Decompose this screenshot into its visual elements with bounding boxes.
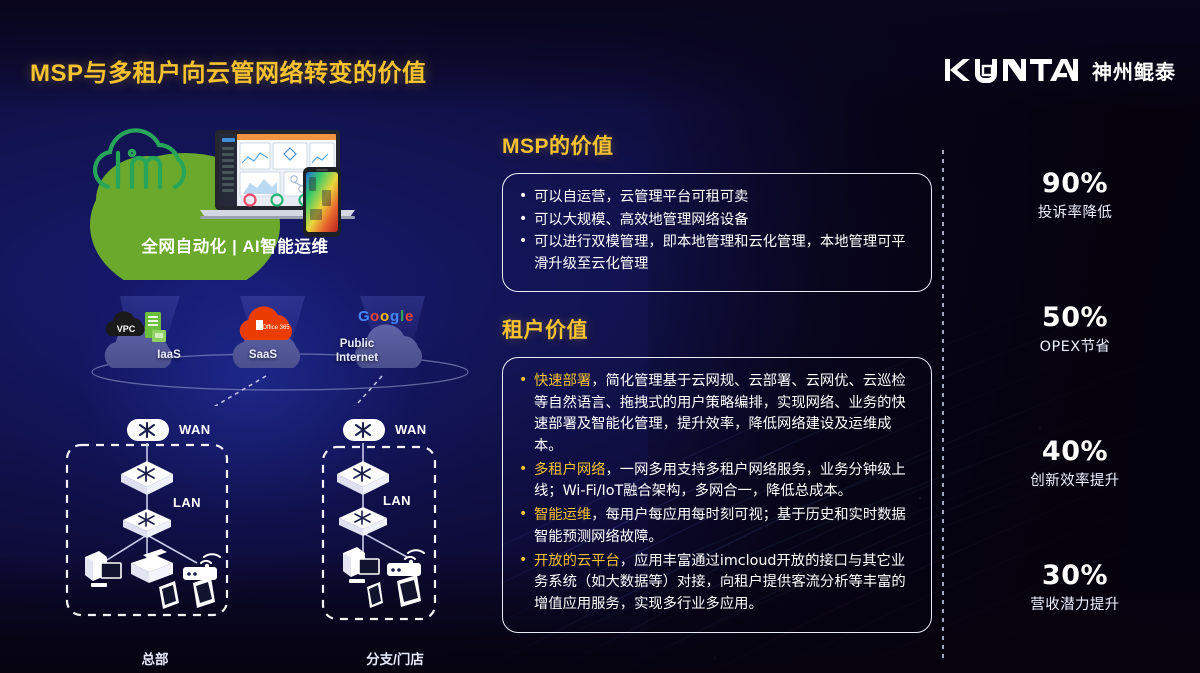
stat-item: 50% OPEX节省: [950, 302, 1200, 356]
topology-hq-diagram: [55, 405, 255, 655]
topology-branch-caption: 分支/门店: [295, 648, 495, 668]
list-item: 智能运维，每用户每应用每时刻可视；基于历史和实时数据智能预测网络故障。: [517, 505, 915, 548]
topology-branch: WAN LAN 分支/门店: [295, 405, 495, 670]
tenant-value-panel: 快速部署，简化管理基于云网规、云部署、云网优、云巡检等自然语言、拖拽式的用户策略…: [502, 357, 932, 633]
stat-value: 30%: [950, 560, 1200, 591]
stat-caption: 营收潜力提升: [950, 593, 1200, 614]
stat-value: 50%: [950, 302, 1200, 333]
tablet-device-icon-1: [367, 582, 383, 608]
brand-name-cn: 神州鲲泰: [1092, 56, 1176, 85]
stat-caption: OPEX节省: [950, 335, 1200, 356]
topology-hq-wan-label: WAN: [179, 422, 211, 437]
list-item: 可以大规模、高效地管理网络设备: [517, 210, 915, 232]
brand-logo: 神州鲲泰: [945, 55, 1176, 85]
svg-text:VPC: VPC: [117, 324, 136, 334]
google-logo-icon: G o o g l e: [358, 308, 413, 325]
tenant-item-keyword: 智能运维: [534, 507, 591, 523]
kuntai-wordmark-icon: [945, 57, 1079, 83]
desktop-pc-icon: [85, 551, 121, 587]
tenant-item-keyword: 多租户网络: [534, 462, 605, 478]
svg-text:g: g: [390, 308, 399, 325]
stat-item: 40% 创新效率提升: [950, 436, 1200, 490]
msp-item-text: 可以大规模、高效地管理网络设备: [534, 212, 748, 228]
tenant-section-heading: 租户价值: [502, 314, 932, 344]
svg-text:o: o: [380, 308, 389, 325]
stat-value: 40%: [950, 436, 1200, 467]
svg-text:l: l: [400, 308, 404, 325]
tenant-value-list: 快速部署，简化管理基于云网规、云部署、云网优、云巡检等自然语言、拖拽式的用户策略…: [517, 371, 915, 616]
tenant-item-keyword: 开放的云平台: [534, 553, 620, 569]
cloud-label-saas: SaaS: [218, 348, 308, 362]
desktop-pc-icon: [343, 547, 379, 583]
list-item: 快速部署，简化管理基于云网规、云部署、云网优、云巡检等自然语言、拖拽式的用户策略…: [517, 371, 915, 458]
svg-text:G: G: [358, 308, 370, 325]
topology-branch-wan-label: WAN: [395, 422, 427, 437]
switch-device-icon-2: [123, 509, 171, 538]
tablet-device-icon-2: [193, 577, 215, 608]
switch-device-icon-2: [339, 507, 387, 536]
stat-caption: 创新效率提升: [950, 469, 1200, 490]
list-item: 可以进行双模管理，即本地管理和云化管理，本地管理可平滑升级至云化管理: [517, 232, 915, 275]
tenant-item-keyword: 快速部署: [534, 373, 591, 389]
stat-caption: 投诉率降低: [950, 201, 1200, 222]
topology-branch-lan-label: LAN: [383, 493, 411, 508]
stat-item: 30% 营收潜力提升: [950, 560, 1200, 614]
msp-value-panel: 可以自运营，云管理平台可租可卖 可以大规模、高效地管理网络设备 可以进行双模管理…: [502, 173, 932, 292]
list-item: 多租户网络，一网多用支持多租户网络服务，业务分钟级上线；Wi-Fi/IoT融合架…: [517, 460, 915, 503]
msp-item-text: 可以自运营，云管理平台可租可卖: [534, 189, 748, 205]
vertical-dotted-divider: [942, 150, 944, 662]
switch-device-icon-1: [121, 461, 173, 495]
msp-item-text: 可以进行双模管理，即本地管理和云化管理，本地管理可平滑升级至云化管理: [534, 234, 906, 272]
svg-text:Office 365: Office 365: [262, 325, 290, 331]
cloud-label-iaas: IaaS: [124, 348, 214, 362]
list-item: 可以自运营，云管理平台可租可卖: [517, 187, 915, 209]
topology-hq-lan-label: LAN: [173, 495, 201, 510]
stat-value: 90%: [950, 168, 1200, 199]
cloud-label-public-internet: PublicInternet: [312, 337, 402, 366]
topology-branch-diagram: [295, 405, 495, 655]
topology-headquarters: WAN LAN 总部: [55, 405, 255, 670]
svg-text:o: o: [370, 308, 379, 325]
stat-item: 90% 投诉率降低: [950, 168, 1200, 222]
msp-value-list: 可以自运营，云管理平台可租可卖 可以大规模、高效地管理网络设备 可以进行双模管理…: [517, 187, 915, 276]
illustration-caption: 全网自动化 | AI智能运维: [0, 233, 470, 257]
switch-device-icon-1: [337, 461, 389, 495]
router-device-icon: [343, 419, 385, 441]
list-item: 开放的云平台，应用丰富通过imcloud开放的接口与其它业务系统（如大数据等）对…: [517, 551, 915, 616]
smartphone-heatmap-icon: [303, 167, 341, 237]
slide-root: MSP与多租户向云管网络转变的价值: [0, 0, 1200, 673]
wireless-ap-icon: [387, 550, 424, 576]
page-title: MSP与多租户向云管网络转变的价值: [30, 53, 427, 88]
printer-device-icon: [131, 549, 173, 583]
tablet-device-icon-2: [397, 575, 421, 607]
value-propositions: MSP的价值 可以自运营，云管理平台可租可卖 可以大规模、高效地管理网络设备 可…: [502, 130, 932, 633]
router-device-icon: [127, 419, 169, 441]
topology-hq-caption: 总部: [55, 648, 255, 668]
tablet-device-icon-1: [159, 581, 179, 609]
stats-column: 90% 投诉率降低 50% OPEX节省 40% 创新效率提升 30% 营收潜力…: [950, 150, 1200, 662]
msp-section-heading: MSP的价值: [502, 130, 932, 160]
svg-text:e: e: [405, 308, 413, 325]
